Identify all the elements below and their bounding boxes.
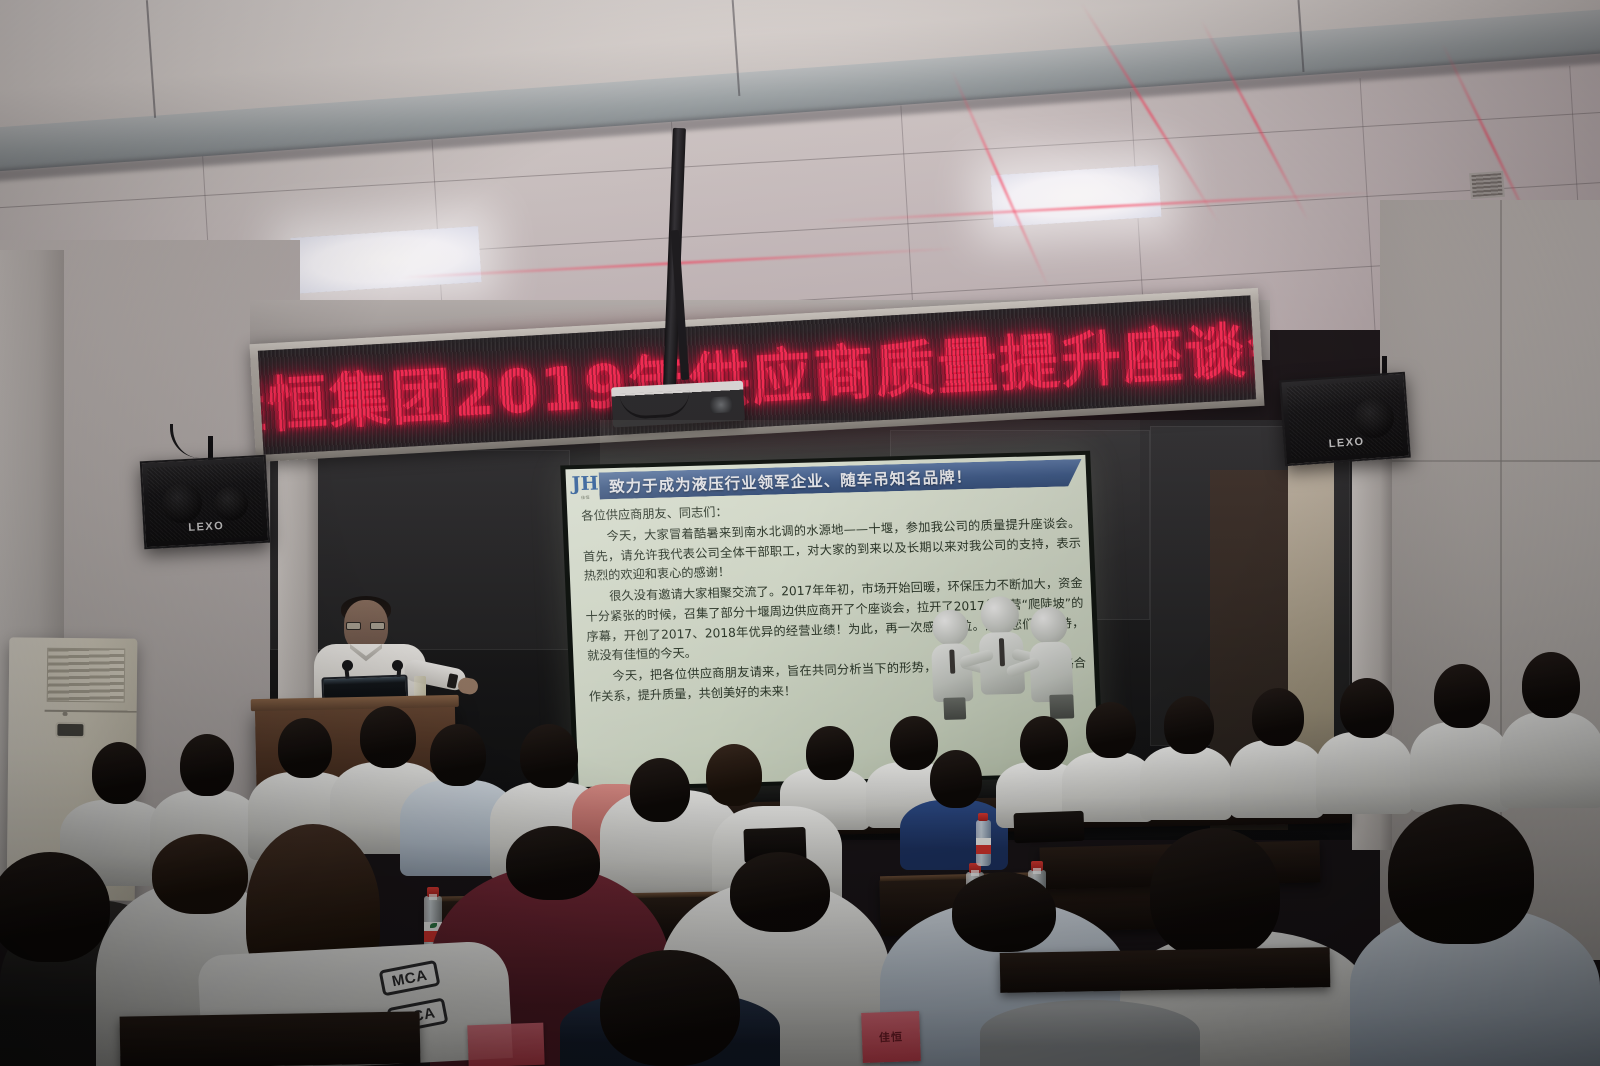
audience-head (1388, 804, 1534, 944)
water-bottle-icon (976, 820, 991, 866)
ac-indicator (63, 712, 68, 716)
audience-head (520, 724, 578, 788)
glasses-icon (346, 622, 386, 630)
handshake-figures-illustration (917, 585, 1091, 725)
audience-person (1410, 722, 1510, 812)
audience-head (1164, 696, 1214, 754)
audience-head (1252, 688, 1304, 746)
ceiling-panel-light (290, 226, 481, 294)
conference-room-photo: 佳恒集团2019年供应商质量提升座谈会 JH 佳恒 致力于成为液压行业领军企业、… (0, 0, 1600, 1066)
audience-head (506, 826, 600, 900)
company-logo-icon: JH 佳恒 (572, 474, 599, 503)
projector-lens-icon (710, 396, 733, 413)
microphone-head-icon (392, 660, 403, 671)
audience-head (1086, 702, 1136, 758)
speaker-bracket (208, 436, 213, 460)
name-card-text: 佳恒 (861, 1011, 921, 1063)
audience-head (706, 744, 762, 806)
desk-row-foreground (120, 1011, 421, 1066)
ac-vent-grille (47, 648, 126, 703)
audience-person (1140, 746, 1232, 820)
speaker-icon-right: LEXO (1279, 372, 1411, 467)
audience-head (1340, 678, 1394, 738)
logo-mark: JH (571, 474, 599, 494)
mca-logo-text: MCA (379, 960, 441, 997)
chair-back (1013, 811, 1084, 843)
audience-head (806, 726, 854, 780)
audience-head (600, 950, 740, 1066)
audience-person (1316, 732, 1412, 814)
audience-head (730, 852, 830, 932)
microphone-head-icon (342, 660, 353, 671)
slide-title: 致力于成为液压行业领军企业、随车吊知名品牌！ (609, 465, 973, 497)
audience-head (1522, 652, 1580, 718)
audience-head (890, 716, 938, 770)
audience-head (278, 718, 332, 778)
ac-display-panel[interactable] (55, 722, 85, 738)
audience-person-foreground (980, 1000, 1200, 1066)
audience-head (180, 734, 234, 796)
audience-person (1230, 740, 1324, 818)
audience-head (930, 750, 982, 808)
audience-head (360, 706, 416, 768)
desk-row-foreground (1000, 947, 1331, 993)
speaker-icon-left: LEXO (140, 455, 270, 549)
audience-head (1150, 828, 1280, 958)
name-card (467, 1023, 544, 1066)
audience-head (0, 852, 110, 962)
audience-head (1434, 664, 1490, 728)
audience-head (1020, 716, 1068, 770)
audience-head (152, 834, 248, 914)
audience-person (1500, 712, 1600, 808)
audience-head (952, 872, 1056, 952)
audience-person (900, 800, 1008, 870)
logo-subtext: 佳恒 (581, 495, 590, 501)
name-card: 佳恒 (861, 1011, 921, 1063)
audience-head (430, 724, 486, 786)
ceiling-vent-icon (1469, 171, 1505, 199)
ac-seam (45, 710, 137, 712)
audience-head (92, 742, 146, 804)
audience-head (630, 758, 690, 822)
